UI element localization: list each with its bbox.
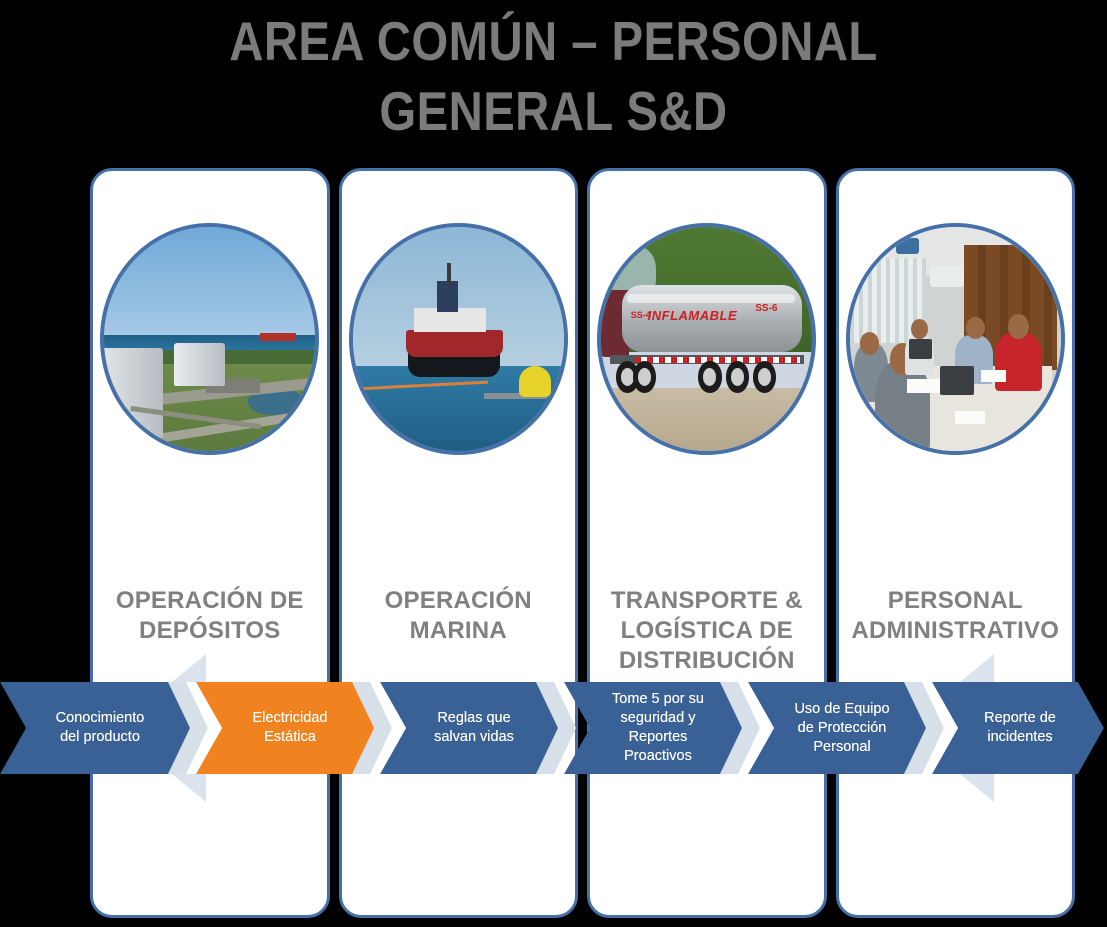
truck-marking-inflamable: INFLAMABLE: [648, 308, 738, 323]
category-card-row: OPERACIÓN DE DEPÓSITOS OPERACIÓN MARINA …: [90, 168, 1075, 918]
process-step-label: Tome 5 por su seguridad y Reportes Proac…: [612, 690, 704, 766]
moored-oil-tanker-ship-photo: [349, 223, 568, 455]
process-step-label: Conocimiento del producto: [56, 709, 145, 747]
process-step-label: Reporte de incidentes: [984, 709, 1056, 747]
card-label: OPERACIÓN DE DEPÓSITOS: [99, 586, 321, 646]
process-step-label: Uso de Equipo de Protección Personal: [794, 700, 889, 757]
category-card-transporte-logistica[interactable]: SS-4 INFLAMABLE SS-6 TRANSPORTE & LOGÍST…: [587, 168, 827, 918]
card-label: TRANSPORTE & LOGÍSTICA DE DISTRIBUCIÓN: [596, 586, 818, 676]
fuel-storage-tank-depot-photo: [100, 223, 319, 455]
process-step-label: Electricidad Estática: [253, 709, 328, 747]
truck-marking-right-code: SS-6: [755, 303, 777, 314]
category-card-personal-administrativo[interactable]: PERSONAL ADMINISTRATIVO: [836, 168, 1076, 918]
process-step-uso-epp[interactable]: Uso de Equipo de Protección Personal: [748, 682, 932, 774]
category-card-operacion-marina[interactable]: OPERACIÓN MARINA: [339, 168, 579, 918]
page-title: AREA COMÚN – PERSONAL GENERAL S&D: [77, 6, 1029, 146]
fuel-tanker-truck-photo: SS-4 INFLAMABLE SS-6: [597, 223, 816, 455]
process-flow-band: Conocimiento del producto Electricidad E…: [0, 676, 1107, 780]
office-meeting-room-photo: [846, 223, 1065, 455]
process-step-reglas-que-salvan-vidas[interactable]: Reglas que salvan vidas: [380, 682, 564, 774]
process-step-conocimiento-del-producto[interactable]: Conocimiento del producto: [0, 682, 196, 774]
process-step-electricidad-estatica[interactable]: Electricidad Estática: [196, 682, 380, 774]
process-step-reporte-de-incidentes[interactable]: Reporte de incidentes: [932, 682, 1104, 774]
category-card-operacion-depositos[interactable]: OPERACIÓN DE DEPÓSITOS: [90, 168, 330, 918]
process-step-label: Reglas que salvan vidas: [434, 709, 514, 747]
card-label: OPERACIÓN MARINA: [348, 586, 570, 646]
process-step-tome-5[interactable]: Tome 5 por su seguridad y Reportes Proac…: [564, 682, 748, 774]
card-label: PERSONAL ADMINISTRATIVO: [845, 586, 1067, 646]
